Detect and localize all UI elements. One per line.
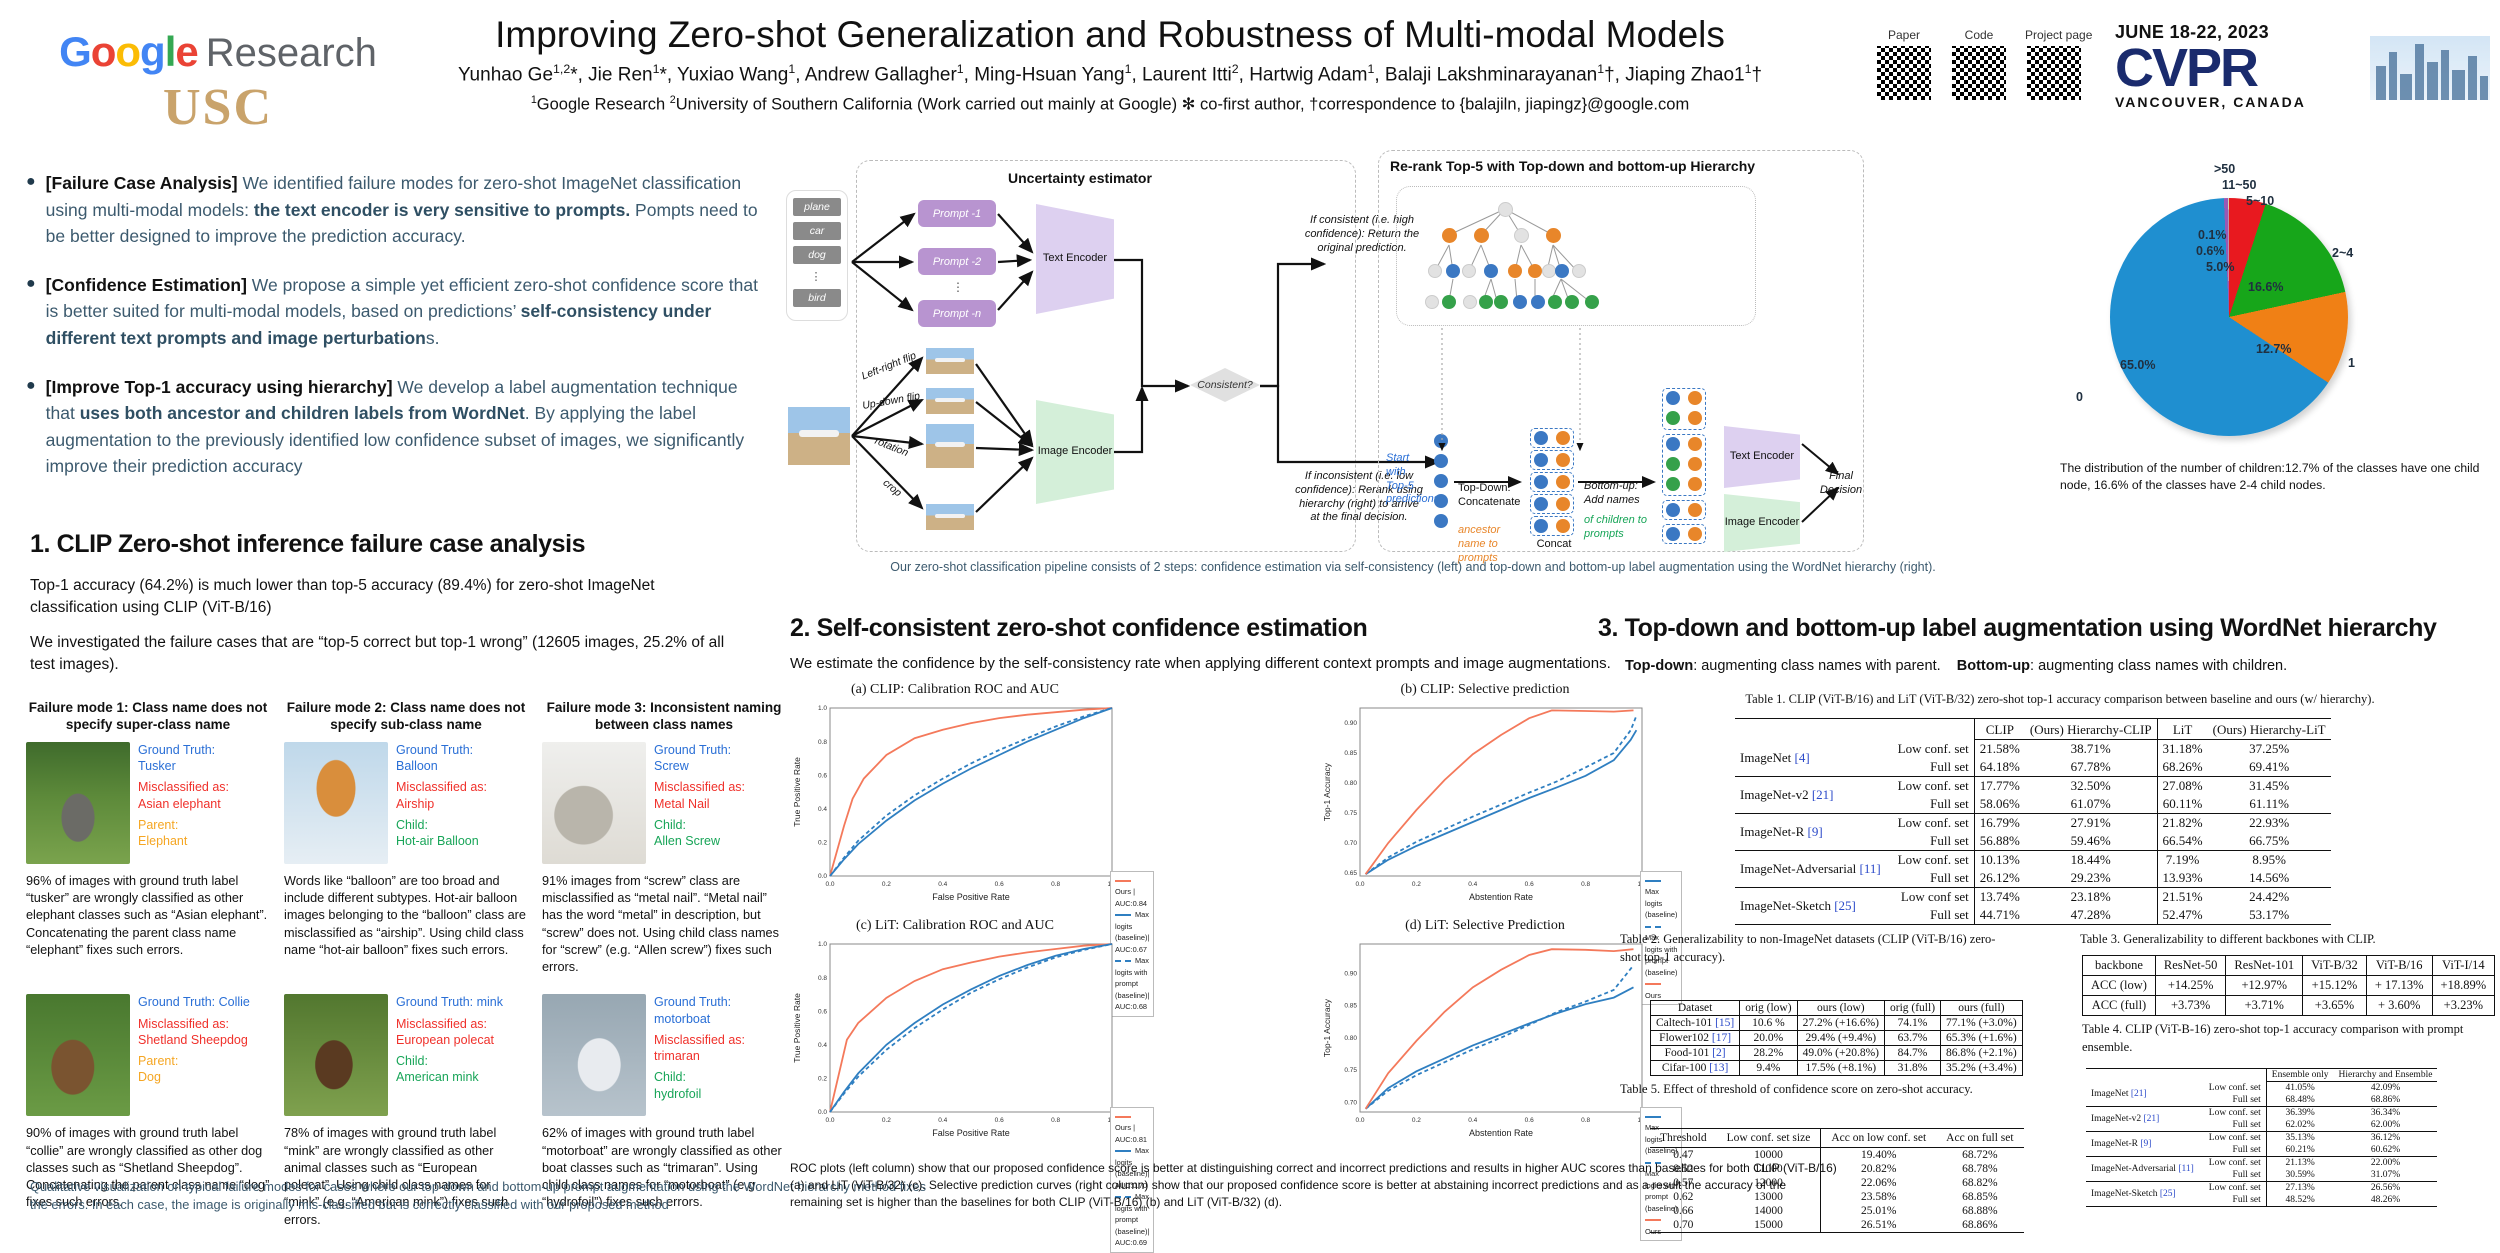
t1-header-0: CLIP: [1974, 719, 2025, 740]
table-row: ImageNet [21] Low conf. set 41.05% 42.09…: [2086, 1082, 2437, 1095]
rerank-title: Re-rank Top-5 with Top-down and bottom-u…: [1390, 158, 1755, 174]
failure-mode-labels: Ground Truth:motorboatMisclassified as:t…: [654, 994, 745, 1116]
failure-mode-title: Failure mode 3: Inconsistent naming betw…: [542, 700, 786, 734]
t4-hierarchy: 36.34%: [2334, 1107, 2438, 1120]
legend-entry-1: Max logits (baseline)| AUC:0.67: [1115, 909, 1149, 955]
balloon-photo: [284, 742, 388, 864]
svg-text:0.90: 0.90: [1344, 970, 1357, 977]
t1-lit: 21.82%: [2157, 814, 2208, 833]
svg-text:0.75: 0.75: [1344, 810, 1357, 817]
failure-mode-grid: Failure mode 1: Class name does not spec…: [26, 700, 786, 1229]
aug-orange-node: [1688, 457, 1702, 471]
class-chip-car: car: [793, 222, 841, 240]
pipeline-caption: Our zero-shot classification pipeline co…: [778, 560, 2048, 574]
svg-text:0.6: 0.6: [995, 1117, 1004, 1124]
aug-orange-node: [1688, 503, 1702, 517]
aug-orange-node: [1688, 527, 1702, 541]
class-chip-dog: dog: [793, 246, 841, 264]
svg-text:0.6: 0.6: [1525, 881, 1534, 888]
qr-code-icon[interactable]: [2025, 44, 2083, 102]
t1-subrow: Low conf. set: [1893, 740, 1975, 759]
final-decision-label: Final Decision: [1812, 470, 1870, 498]
t3-cell-0: ACC (full): [2083, 996, 2156, 1016]
legend-entry-2: Max logits with prompt (baseline)| AUC:0…: [1115, 955, 1149, 1012]
label-gt: Ground Truth:Screw: [654, 742, 745, 775]
pie-value-0: 65.0%: [2120, 358, 2155, 372]
label-mis: Misclassified as:Asian elephant: [138, 779, 229, 812]
t1-lit: 31.18%: [2157, 740, 2208, 759]
t4-hierarchy: 68.86%: [2334, 1094, 2438, 1107]
t2-cell-3: 74.1%: [1885, 1016, 1941, 1031]
t4-ensemble: 62.02%: [2266, 1119, 2333, 1132]
qr-code-icon[interactable]: [1950, 44, 2008, 102]
svg-text:0.2: 0.2: [882, 881, 891, 888]
concat-blue-node: [1534, 431, 1548, 445]
t1-lit: 21.51%: [2157, 888, 2208, 907]
t1-hlit: 8.95%: [2208, 851, 2331, 870]
author-list: Yunhao Ge1,2*, Jie Ren1*, Yuxiao Wang1, …: [360, 62, 1860, 86]
failure-mode-title: Failure mode 1: Class name does not spec…: [26, 700, 270, 734]
t1-lit: 7.19%: [2157, 851, 2208, 870]
t1-clip: 64.18%: [1974, 758, 2025, 777]
pie-value-gt50: 0.1%: [2198, 228, 2227, 242]
t2-cell-0: Food-101 [2]: [1651, 1046, 1740, 1061]
legend-entry-0: Max logits (baseline): [1645, 875, 1677, 921]
t5-cell-0: 0.62: [1650, 1190, 1717, 1204]
t4-dataset: ImageNet-v2 [21]: [2086, 1107, 2204, 1132]
t1-header-3: (Ours) Hierarchy-LiT: [2208, 719, 2331, 740]
t1-clip: 58.06%: [1974, 795, 2025, 814]
google-research-logo: GoogleResearch: [18, 28, 418, 76]
t3-header-2: ResNet-101: [2226, 956, 2303, 976]
t5-header-1: Low conf. set size: [1717, 1129, 1821, 1148]
t5-cell-1: 10000: [1717, 1148, 1821, 1163]
t4-dataset: ImageNet-R [9]: [2086, 1132, 2204, 1157]
y-axis-label: True Positive Rate: [792, 993, 802, 1063]
t2-cell-0: Flower102 [17]: [1651, 1031, 1740, 1046]
t4-subrow: Low conf. set: [2204, 1082, 2266, 1095]
plot-svg-b: 0.00.20.40.60.81.00.650.700.750.800.850.…: [1320, 702, 1650, 902]
t1-subrow: Low conf set: [1893, 888, 1975, 907]
t2-header-2: ours (low): [1797, 1001, 1884, 1016]
t5-cell-1: 12000: [1717, 1176, 1821, 1190]
svg-text:0.8: 0.8: [818, 975, 827, 982]
qr-code[interactable]: Code: [1950, 28, 2008, 102]
plot-panel-a: (a) CLIP: Calibration ROC and AUC 0.00.2…: [790, 682, 1120, 907]
plot-title-c: (c) LiT: Calibration ROC and AUC: [790, 918, 1120, 934]
t3-header-0: backbone: [2083, 956, 2156, 976]
t4-hierarchy: 22.00%: [2334, 1157, 2438, 1170]
table-row: 0.521100020.82%68.78%: [1650, 1162, 2024, 1176]
augmented-image-crop: [926, 504, 974, 530]
table-3-caption: Table 3. Generalizability to different b…: [2080, 930, 2490, 948]
research-wordmark: Research: [206, 31, 377, 75]
t4-subrow: Low conf. set: [2204, 1182, 2266, 1195]
plot-title-d: (d) LiT: Selective Prediction: [1320, 918, 1650, 934]
qr-project[interactable]: Project page: [2025, 28, 2092, 102]
aug-green-node: [1666, 411, 1680, 425]
t4-hierarchy: 62.00%: [2334, 1119, 2438, 1132]
children-distribution-pie-chart: >50 11~50 5~10 2~4 1 0 0.1% 0.6% 5.0% 16…: [2070, 150, 2490, 490]
label-mis: Misclassified as:Shetland Sheepdog: [138, 1016, 250, 1049]
t3-cell-4: + 3.60%: [2366, 996, 2432, 1016]
x-axis-label: False Positive Rate: [932, 892, 1010, 902]
section-3-subtitle: Top-down: augmenting class names with pa…: [1625, 658, 2485, 674]
t1-hlit: 14.56%: [2208, 869, 2331, 888]
table-4-caption: Table 4. CLIP (ViT-B-16) zero-shot top-1…: [2082, 1020, 2482, 1056]
contribution-bullet-3: ● [Improve Top-1 accuracy using hierarch…: [26, 374, 766, 480]
t3-cell-5: +3.23%: [2432, 996, 2495, 1016]
failure-mode-card: Failure mode 3: Inconsistent naming betw…: [542, 700, 786, 976]
tree-node-root: [1498, 202, 1513, 217]
tree-node-child: [1442, 295, 1456, 309]
t5-cell-3: 68.72%: [1936, 1148, 2023, 1163]
t3-header-1: ResNet-50: [2155, 956, 2225, 976]
svg-text:0.2: 0.2: [1412, 1117, 1421, 1124]
t1-dataset: ImageNet-v2 [21]: [1735, 777, 1893, 814]
tree-node-other: [1542, 264, 1556, 278]
label-mis: Misclassified as:trimaran: [654, 1032, 745, 1065]
svg-text:0.90: 0.90: [1344, 720, 1357, 727]
t1-hlit: 69.41%: [2208, 758, 2331, 777]
t1-hlit: 31.45%: [2208, 777, 2331, 796]
svg-text:0.0: 0.0: [818, 873, 827, 880]
t1-lit: 52.47%: [2157, 906, 2208, 925]
pipeline-diagram: Uncertainty estimator plane car dog ⋮ bi…: [778, 152, 2048, 552]
svg-text:0.70: 0.70: [1344, 840, 1357, 847]
top5-node: [1434, 454, 1448, 468]
t4-ensemble: 48.52%: [2266, 1194, 2333, 1207]
t3-cell-0: ACC (low): [2083, 976, 2156, 996]
plot-svg-a: 0.00.20.40.60.81.00.00.20.40.60.81.0Fals…: [790, 702, 1120, 902]
t1-hclip: 27.91%: [2025, 814, 2157, 833]
aug-orange-node: [1688, 437, 1702, 451]
table-row: ImageNet-v2 [21] Low conf. set 36.39% 36…: [2086, 1107, 2437, 1120]
t3-cell-1: +3.73%: [2155, 996, 2225, 1016]
t4-ensemble: 30.59%: [2266, 1169, 2333, 1182]
table-row: 0.661400025.01%68.88%: [1650, 1204, 2024, 1218]
class-name-list: plane car dog ⋮ bird: [786, 190, 848, 321]
t4-dataset: ImageNet [21]: [2086, 1082, 2204, 1107]
augmented-image-rotation: [926, 424, 974, 468]
x-axis-label: False Positive Rate: [932, 1128, 1010, 1138]
table-row: ImageNet-R [9] Low conf. set 16.79% 27.9…: [1735, 814, 2331, 833]
pie-value-1: 12.7%: [2256, 342, 2291, 356]
table-row: ImageNet-Sketch [25] Low conf set 13.74%…: [1735, 888, 2331, 907]
class-chip-bird: bird: [793, 289, 841, 307]
table-1-grid: CLIP(Ours) Hierarchy-CLIPLiT(Ours) Hiera…: [1735, 718, 2331, 925]
y-axis-label: True Positive Rate: [792, 757, 802, 827]
t2-cell-0: Caltech-101 [15]: [1651, 1016, 1740, 1031]
t5-cell-2: 20.82%: [1821, 1162, 1936, 1176]
svg-text:0.0: 0.0: [1355, 881, 1364, 888]
t3-header-3: ViT-B/32: [2303, 956, 2367, 976]
t1-lit: 66.54%: [2157, 832, 2208, 851]
svg-text:0.4: 0.4: [938, 1117, 947, 1124]
t4-hierarchy: 42.09%: [2334, 1082, 2438, 1095]
qr-project-label: Project page: [2025, 28, 2092, 42]
pie-value-2-4: 16.6%: [2248, 280, 2283, 294]
x-axis-label: Abstention Rate: [1469, 892, 1533, 902]
svg-text:0.4: 0.4: [1468, 881, 1477, 888]
svg-text:0.6: 0.6: [1525, 1117, 1534, 1124]
failure-row-1: Failure mode 1: Class name does not spec…: [26, 700, 786, 976]
failure-mode-card: Failure mode 1: Class name does not spec…: [26, 700, 270, 976]
plot-panel-d: (d) LiT: Selective Prediction 0.00.20.40…: [1320, 918, 1650, 1143]
svg-text:0.8: 0.8: [818, 739, 827, 746]
label-child: Child:American mink: [396, 1053, 503, 1086]
t5-cell-3: 68.85%: [1936, 1190, 2023, 1204]
t4-subrow: Full set: [2204, 1119, 2266, 1132]
t1-hclip: 67.78%: [2025, 758, 2157, 777]
tree-node-other: [1572, 264, 1586, 278]
table-row: ImageNet-Adversarial [11] Low conf. set …: [2086, 1157, 2437, 1170]
t5-cell-1: 14000: [1717, 1204, 1821, 1218]
section-3-title: 3. Top-down and bottom-up label augmenta…: [1598, 614, 2437, 643]
t1-header-2: LiT: [2157, 719, 2208, 740]
plot-panel-b: (b) CLIP: Selective prediction 0.00.20.4…: [1320, 682, 1650, 907]
failure-mode-labels: Ground Truth:ScrewMisclassified as:Metal…: [654, 742, 745, 864]
table-4: Ensemble only Hierarchy and Ensemble Ima…: [2086, 1068, 2437, 1207]
t4-subrow: Low conf. set: [2204, 1132, 2266, 1145]
table-5-grid: ThresholdLow conf. set sizeAcc on low co…: [1650, 1128, 2024, 1233]
plot-panel-c: (c) LiT: Calibration ROC and AUC 0.00.20…: [790, 918, 1120, 1143]
rerank-image-encoder: Image Encoder: [1724, 494, 1800, 552]
prompt-box-1: Prompt -1: [918, 200, 996, 227]
table-2: Datasetorig (low)ours (low)orig (full)ou…: [1650, 1000, 2023, 1076]
failure-mode-labels: Ground Truth:BalloonMisclassified as:Air…: [396, 742, 487, 864]
pie-graphic: [2110, 198, 2348, 436]
t1-hlit: 61.11%: [2208, 795, 2331, 814]
aug-green-node: [1666, 457, 1680, 471]
label-mis: Misclassified as:Metal Nail: [654, 779, 745, 812]
t4-ensemble: 21.13%: [2266, 1157, 2333, 1170]
pie-chart-caption: The distribution of the number of childr…: [2060, 460, 2490, 494]
table-row: Cifar-100 [13]9.4%17.5% (+8.1%)31.8%35.2…: [1651, 1061, 2023, 1076]
cvpr-banner: JUNE 18-22, 2023 CVPR VANCOUVER, CANADA: [2115, 22, 2490, 100]
table-row: ACC (low)+14.25%+12.97%+15.12%+ 17.13%+1…: [2083, 976, 2495, 996]
top-down-label: Top-Down: Concatenate: [1458, 482, 1524, 510]
svg-text:0.4: 0.4: [1468, 1117, 1477, 1124]
t2-header-1: orig (low): [1740, 1001, 1797, 1016]
contribution-text-1: [Failure Case Analysis] We identified fa…: [46, 170, 766, 250]
contribution-text-2: [Confidence Estimation] We propose a sim…: [46, 272, 766, 352]
tree-node-other: [1463, 295, 1477, 309]
concat-blue-node: [1534, 497, 1548, 511]
t1-dataset: ImageNet [4]: [1735, 740, 1893, 777]
t3-cell-3: +3.65%: [2303, 996, 2367, 1016]
t4-ensemble: 60.21%: [2266, 1144, 2333, 1157]
aug-blue-node: [1666, 503, 1680, 517]
vertical-ellipsis-icon: ⋮: [793, 270, 841, 283]
prompt-box-n: Prompt -n: [918, 300, 996, 327]
start-with-top5-label: Start with Top-5 predictions: [1386, 452, 1428, 507]
t4-subrow: Full set: [2204, 1194, 2266, 1207]
t4-hierarchy: 26.56%: [2334, 1182, 2438, 1195]
t1-subrow: Full set: [1893, 832, 1975, 851]
svg-text:0.8: 0.8: [1051, 881, 1060, 888]
qr-code-icon[interactable]: [1875, 44, 1933, 102]
bottom-up-term: Bottom-up: [1957, 658, 2030, 674]
t5-cell-0: 0.52: [1650, 1162, 1717, 1176]
table-1-caption: Table 1. CLIP (ViT-B/16) and LiT (ViT-B/…: [1660, 690, 2460, 708]
t1-hclip: 47.28%: [2025, 906, 2157, 925]
t1-clip: 26.12%: [1974, 869, 2025, 888]
t2-cell-3: 63.7%: [1885, 1031, 1941, 1046]
t5-cell-1: 15000: [1717, 1218, 1821, 1233]
tree-node-ancestor: [1508, 264, 1522, 278]
t5-cell-3: 68.78%: [1936, 1162, 2023, 1176]
label-gt: Ground Truth:motorboat: [654, 994, 745, 1027]
y-axis-label: Top-1 Accuracy: [1322, 998, 1332, 1057]
contribution-text-3: [Improve Top-1 accuracy using hierarchy]…: [46, 374, 766, 480]
prompt-box-2: Prompt -2: [918, 248, 996, 275]
key-contributions-list: ● [Failure Case Analysis] We identified …: [26, 170, 766, 502]
t1-subrow: Full set: [1893, 906, 1975, 925]
t1-dataset: ImageNet-Sketch [25]: [1735, 888, 1893, 925]
svg-text:0.70: 0.70: [1344, 1100, 1357, 1107]
concat-blue-node: [1534, 519, 1548, 533]
label-gt: Ground Truth:Tusker: [138, 742, 229, 775]
y-axis-label: Top-1 Accuracy: [1322, 762, 1332, 821]
vancouver-skyline-icon: [2370, 36, 2490, 100]
qr-code-label: Code: [1950, 28, 2008, 42]
t2-cell-0: Cifar-100 [13]: [1651, 1061, 1740, 1076]
tree-node-ancestor: [1474, 228, 1489, 243]
t4-hierarchy: 60.62%: [2334, 1144, 2438, 1157]
t1-hlit: 66.75%: [2208, 832, 2331, 851]
t3-cell-1: +14.25%: [2155, 976, 2225, 996]
t5-cell-0: 0.66: [1650, 1204, 1717, 1218]
concat-blue-node: [1534, 453, 1548, 467]
t4-hierarchy: 31.07%: [2334, 1169, 2438, 1182]
aug-orange-node: [1688, 391, 1702, 405]
label-par: Parent:Elephant: [138, 817, 229, 850]
contribution-bullet-2: ● [Confidence Estimation] We propose a s…: [26, 272, 766, 352]
svg-text:0.80: 0.80: [1344, 780, 1357, 787]
t1-clip: 21.58%: [1974, 740, 2025, 759]
t1-hlit: 37.25%: [2208, 740, 2331, 759]
plot-title-b: (b) CLIP: Selective prediction: [1320, 682, 1650, 698]
t1-subrow: Low conf. set: [1893, 814, 1975, 833]
svg-text:0.75: 0.75: [1344, 1067, 1357, 1074]
usc-logo: USC: [18, 78, 418, 137]
failure-mode-caption: Words like “balloon” are too broad and i…: [284, 873, 528, 959]
t4-ensemble: 41.05%: [2266, 1082, 2333, 1095]
table-row: Caltech-101 [15]10.6 %27.2% (+16.6%)74.1…: [1651, 1016, 2023, 1031]
mink-photo: [284, 994, 388, 1116]
table-5: ThresholdLow conf. set sizeAcc on low co…: [1650, 1128, 2024, 1233]
tree-node-other: [1425, 295, 1439, 309]
tree-node-ancestor: [1442, 228, 1457, 243]
concat-label: Concat: [1526, 538, 1582, 552]
t1-subrow: Low conf. set: [1893, 851, 1975, 870]
tree-node-prediction: [1555, 264, 1569, 278]
svg-text:0.4: 0.4: [818, 1042, 827, 1049]
t3-cell-5: +18.89%: [2432, 976, 2495, 996]
bullet-dot-icon: ●: [26, 374, 36, 480]
t4-header-hier: Hierarchy and Ensemble: [2334, 1069, 2438, 1082]
t1-hclip: 61.07%: [2025, 795, 2157, 814]
image-encoder-block: Image Encoder: [1036, 400, 1114, 504]
t1-hclip: 38.71%: [2025, 740, 2157, 759]
bullet-dot-icon: ●: [26, 272, 36, 352]
pie-value-11-50: 0.6%: [2196, 244, 2225, 258]
t2-header-3: orig (full): [1885, 1001, 1941, 1016]
t1-clip: 56.88%: [1974, 832, 2025, 851]
t5-header-2: Acc on low conf. set: [1821, 1129, 1936, 1148]
table-row: ImageNet-Adversarial [11] Low conf. set …: [1735, 851, 2331, 870]
label-par: Parent:Dog: [138, 1053, 250, 1086]
t1-header-1: (Ours) Hierarchy-CLIP: [2025, 719, 2157, 740]
svg-text:0.2: 0.2: [1412, 881, 1421, 888]
t3-cell-2: +12.97%: [2226, 976, 2303, 996]
legend-entry-0: Ours | AUC:0.81: [1115, 1111, 1149, 1145]
label-child: Child:Hot-air Balloon: [396, 817, 487, 850]
section-1-paragraph-1: Top-1 accuracy (64.2%) is much lower tha…: [30, 575, 730, 620]
table-2-grid: Datasetorig (low)ours (low)orig (full)ou…: [1650, 1000, 2023, 1076]
t1-lit: 27.08%: [2157, 777, 2208, 796]
top5-node: [1434, 494, 1448, 508]
t5-cell-2: 19.40%: [1821, 1148, 1936, 1163]
uncertainty-estimator-title: Uncertainty estimator: [1008, 170, 1152, 186]
qr-paper[interactable]: Paper: [1875, 28, 1933, 102]
t3-cell-3: +15.12%: [2303, 976, 2367, 996]
failure-mode-labels: Ground Truth: minkMisclassified as:Europ…: [396, 994, 503, 1116]
plot-svg-d: 0.00.20.40.60.81.00.700.750.800.850.90Ab…: [1320, 938, 1650, 1138]
page-title: Improving Zero-shot Generalization and R…: [360, 14, 1860, 56]
concat-orange-node: [1556, 431, 1570, 445]
t5-cell-3: 68.86%: [1936, 1218, 2023, 1233]
table-row: 0.621300023.58%68.85%: [1650, 1190, 2024, 1204]
svg-text:0.8: 0.8: [1581, 881, 1590, 888]
rerank-text-encoder: Text Encoder: [1724, 426, 1800, 488]
tree-node-ancestor: [1528, 264, 1542, 278]
table-row: 0.701500026.51%68.86%: [1650, 1218, 2024, 1233]
t4-subrow: Low conf. set: [2204, 1107, 2266, 1120]
top5-node: [1434, 474, 1448, 488]
t3-header-4: ViT-B/16: [2366, 956, 2432, 976]
t5-cell-0: 0.70: [1650, 1218, 1717, 1233]
wordnet-tree-panel: [1396, 186, 1756, 326]
svg-text:1.0: 1.0: [818, 941, 827, 948]
table-row: 0.471000019.40%68.72%: [1650, 1148, 2024, 1163]
t2-cell-3: 84.7%: [1885, 1046, 1941, 1061]
t1-subrow: Full set: [1893, 869, 1975, 888]
label-gt: Ground Truth:Balloon: [396, 742, 487, 775]
t1-clip: 13.74%: [1974, 888, 2025, 907]
failure-mode-card: Failure mode 2: Class name does not spec…: [284, 700, 528, 976]
table-3-grid: backboneResNet-50ResNet-101ViT-B/32ViT-B…: [2082, 955, 2495, 1016]
plot-title-a: (a) CLIP: Calibration ROC and AUC: [790, 682, 1120, 698]
elephant-photo: [26, 742, 130, 864]
aug-blue-node: [1666, 437, 1680, 451]
t1-hclip: 29.23%: [2025, 869, 2157, 888]
tree-node-other: [1514, 228, 1529, 243]
tree-node-other: [1462, 264, 1476, 278]
t2-cell-2: 49.0% (+20.8%): [1797, 1046, 1884, 1061]
legend-entry-0: Ours | AUC:0.84: [1115, 875, 1149, 909]
table-row: ImageNet-R [9] Low conf. set 35.13% 36.1…: [2086, 1132, 2437, 1145]
tree-node-child: [1565, 295, 1579, 309]
t1-clip: 16.79%: [1974, 814, 2025, 833]
t1-lit: 13.93%: [2157, 869, 2208, 888]
google-wordmark: Google: [59, 28, 198, 75]
aug-blue-node: [1666, 527, 1680, 541]
label-child: Child:Allen Screw: [654, 817, 745, 850]
affiliation-line: 1Google Research 2University of Southern…: [360, 94, 1860, 115]
t4-subrow: Full set: [2204, 1144, 2266, 1157]
